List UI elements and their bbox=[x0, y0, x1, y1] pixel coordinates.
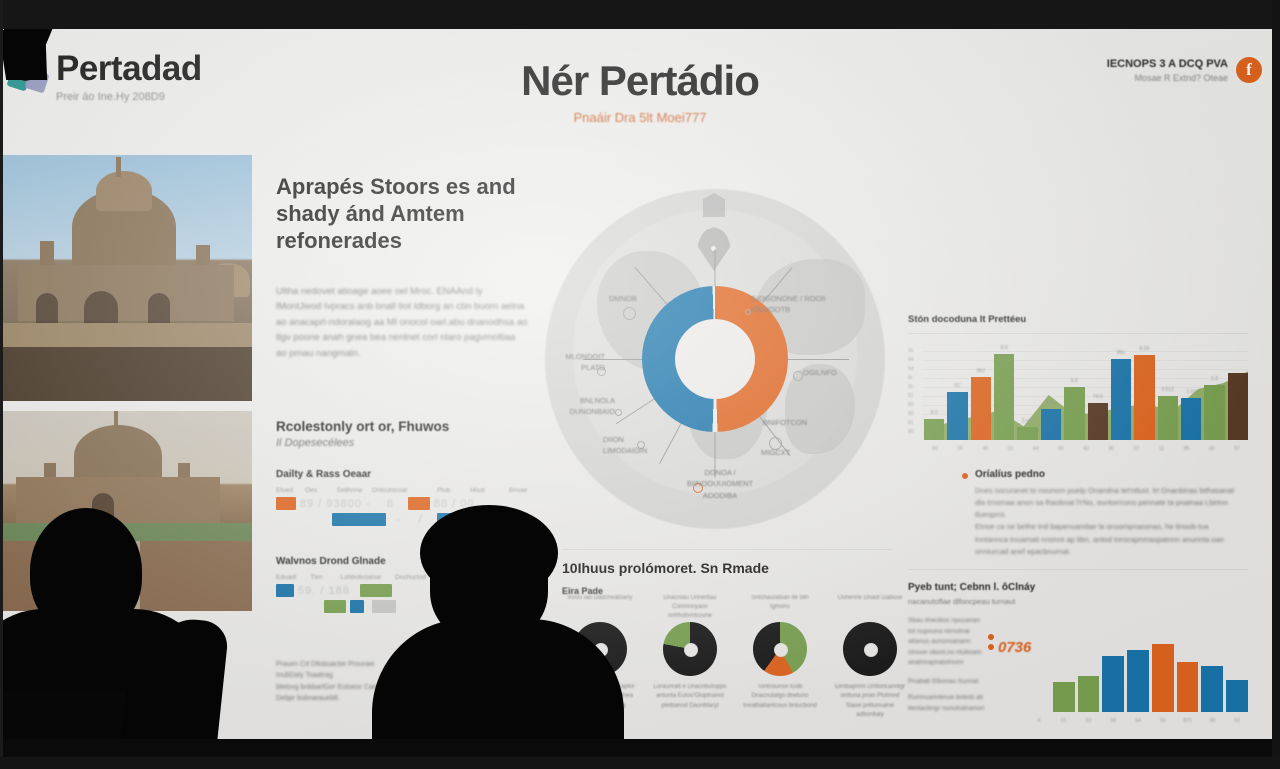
globe-label: DONOA / BIINOOUUIOMENT AOODIBA bbox=[677, 467, 763, 501]
y-tick-label: 90 bbox=[908, 411, 914, 417]
stat-label: Ontcutocoat bbox=[372, 487, 407, 494]
x-tick-label: 30 bbox=[1100, 446, 1122, 452]
stat-swatch-orange bbox=[276, 497, 296, 510]
bar: 8.24 bbox=[1134, 355, 1154, 440]
globe-label: MLONDOIT PLATO bbox=[553, 351, 605, 374]
globe-label: DMNOB bbox=[609, 293, 637, 304]
chart-side-text-2: Pnabab Elbonau Sunnat bbox=[908, 677, 986, 688]
title-block: Nér Pertádio Pnaáir Dra 5lt Moei777 bbox=[0, 57, 1280, 125]
x-tick-label: 59 bbox=[1102, 718, 1124, 724]
chart-panel-bottom-right: Pyeb tunt; Cebnn l. ôClnáy nacanutoflae … bbox=[908, 569, 1248, 724]
bar-value-label: 6.8 bbox=[1064, 378, 1084, 384]
x-tick-label: 11 bbox=[1150, 446, 1172, 452]
x-axis: 000F4001446043302211853097 bbox=[924, 446, 1248, 452]
y-tick-label: 44 bbox=[908, 357, 914, 363]
globe-node[interactable] bbox=[623, 307, 636, 320]
x-tick-label: 22 bbox=[1125, 446, 1147, 452]
stat-value-g2: 59. / 188 bbox=[298, 585, 350, 597]
stat-bar-green-2 bbox=[324, 600, 346, 613]
x-axis: 401035954558709053 bbox=[1028, 718, 1248, 724]
chart-side-text-3: Rumnuannbnue bnbnb ab tlentacbngr nunutr… bbox=[908, 693, 986, 714]
bar: 86J bbox=[971, 377, 991, 440]
bar-group bbox=[1028, 616, 1248, 712]
globe-label: BNIFOTCON bbox=[763, 417, 833, 428]
bar-value-label: 8.0 bbox=[924, 410, 944, 416]
stat-bar-green bbox=[360, 584, 392, 597]
header-right-line1: IECNOPS 3 A DCQ PVA bbox=[1107, 57, 1228, 72]
note-block: Oríalíus pedno Dnes nocuranet to nounom … bbox=[962, 469, 1248, 558]
bar: 8.0 bbox=[924, 419, 944, 440]
bar-value-label: 85c bbox=[1111, 350, 1131, 356]
globe-label: GIOGONONE / ROOII IOOIIOOTB bbox=[751, 293, 827, 316]
stat-label: Hlsat bbox=[470, 487, 485, 494]
screen-frame-left bbox=[0, 0, 3, 769]
x-tick-label: 55 bbox=[1152, 718, 1174, 724]
cards-title: 10Ihuus prolómoret. Sn Rmade bbox=[562, 560, 892, 576]
bar: 9.512 bbox=[1158, 396, 1178, 440]
bar bbox=[1201, 666, 1223, 712]
x-tick-label: 97 bbox=[1226, 446, 1248, 452]
x-tick-label: 53 bbox=[1226, 718, 1248, 724]
bar: 1.0 bbox=[1204, 385, 1224, 440]
note-body: Dnes nocuranet to nounom puelp Onandna t… bbox=[975, 485, 1243, 558]
bar-group: 8.041'86J8.65.o/50.806.874.085c8.249.512… bbox=[924, 342, 1248, 440]
bar-chart-bottom-right: 401035954558709053 bbox=[1028, 616, 1248, 724]
screen-frame-right bbox=[1272, 0, 1280, 769]
stat-label: Lohbubctatow bbox=[341, 574, 381, 581]
donut-card-caption-top: Sntchauodoan lte tillh tgmons bbox=[742, 594, 818, 616]
bar: 6.8 bbox=[1064, 387, 1084, 440]
big-value: 0736 bbox=[998, 639, 1028, 656]
y-tick-label: 3x bbox=[908, 348, 913, 354]
left-body-text: Ultha nedovet atioage aoee oel Mroc. ENA… bbox=[276, 284, 528, 361]
x-tick-label: 870 bbox=[1177, 718, 1199, 724]
bar-value-label: 5.o/5 bbox=[1017, 418, 1037, 424]
donut-card: Dnacniau Unnertlau Conmnnyaon nnhhobvntc… bbox=[652, 594, 728, 720]
bullet-dot-icon bbox=[988, 634, 994, 640]
bar bbox=[1226, 680, 1248, 712]
x-tick-label: 4 bbox=[1028, 718, 1050, 724]
mini-donut-chart bbox=[843, 622, 897, 676]
globe-donut-diagram: DMNOB MLONDOIT PLATO BNLNOLA DUNONBAIO D… bbox=[545, 189, 885, 529]
bar-value-label: 1.0 bbox=[1204, 376, 1224, 382]
x-tick-label: 03 bbox=[1078, 718, 1100, 724]
bar-value-label: 0.80 bbox=[1041, 400, 1061, 406]
bar: 8.6 bbox=[994, 354, 1014, 440]
bar-value-label: 8.24 bbox=[1134, 346, 1154, 352]
donut-card-caption-bottom: Tontcounse lGdb Dnacnulatgo dnetuno tnea… bbox=[742, 683, 818, 711]
bar: 5.o/5 bbox=[1017, 427, 1037, 440]
x-tick-label: 90 bbox=[1201, 718, 1223, 724]
stat-bar-blue-4 bbox=[350, 600, 364, 613]
y-tick-label: 61 bbox=[908, 420, 914, 426]
y-tick-label: 6r bbox=[908, 375, 912, 381]
bar: 85c bbox=[1111, 359, 1131, 440]
bar: 1.1d bbox=[1181, 398, 1201, 440]
photo-monument-1 bbox=[0, 155, 252, 401]
page-subtitle: Pnaáir Dra 5lt Moei777 bbox=[0, 110, 1280, 125]
stat-label: Tlvn bbox=[310, 574, 322, 581]
stat-swatch-blue bbox=[276, 584, 294, 597]
cards-panel: 10Ihuus prolómoret. Sn Rmade Eira Pade bbox=[562, 549, 892, 596]
stat-label: Dnchuctod bbox=[395, 574, 426, 581]
presentation-photo: Pertadad Preir áo Ine.Hy 208D9 Nér Pertá… bbox=[0, 0, 1280, 769]
stat-label: Bnsae bbox=[509, 487, 527, 494]
stat-bar-blue bbox=[332, 513, 386, 526]
header-right-line2: Mosae R Extnd? Oteae bbox=[1107, 72, 1228, 84]
donut-card-caption-bottom: Glntbapnnn Dnttoncanntgr onttuna pnan Pt… bbox=[832, 683, 908, 720]
stat-label: Plub bbox=[437, 487, 450, 494]
y-tick-label: 60 bbox=[908, 402, 914, 408]
x-tick-label: 60 bbox=[1050, 446, 1072, 452]
globe-label: MIGCXT bbox=[761, 447, 821, 458]
stat-value-small: 8 bbox=[387, 498, 394, 510]
bar-value-label: 74.0 bbox=[1088, 394, 1108, 400]
mini-donut-chart bbox=[663, 622, 717, 676]
globe-label: BNLNOLA DUNONBAIO bbox=[563, 395, 615, 418]
donut-card: Sntchauodoan lte tillh tgmonsTontcounse … bbox=[742, 594, 818, 720]
facebook-icon[interactable]: f bbox=[1236, 57, 1262, 83]
x-tick-label: 54 bbox=[1127, 718, 1149, 724]
bullet-dot-icon-2 bbox=[988, 644, 994, 650]
screen-frame-top bbox=[0, 0, 1280, 29]
x-tick-label: 01 bbox=[999, 446, 1021, 452]
stat-bar-grey bbox=[372, 600, 396, 613]
bar: 41' bbox=[947, 392, 967, 440]
x-tick-label: 44 bbox=[1025, 446, 1047, 452]
bar: 0.80 bbox=[1041, 409, 1061, 440]
y-tick-label: 51 bbox=[908, 393, 914, 399]
chart-bottom-subtitle: nacanutoflae dlfoncpeau turnaut bbox=[908, 597, 1248, 606]
bar: 74.0 bbox=[1088, 403, 1108, 440]
x-tick-label: 85 bbox=[1176, 446, 1198, 452]
note-heading: Oríalíus pedno bbox=[975, 469, 1243, 480]
donut-card-caption-top: Dnacniau Unnertlau Conmnnyaon nnhhobvntc… bbox=[652, 594, 728, 616]
chart-title: Stón docoduna lt Prettéeu bbox=[908, 314, 1248, 325]
bar bbox=[1053, 682, 1075, 712]
globe-node[interactable] bbox=[793, 371, 803, 381]
bar bbox=[1102, 656, 1124, 712]
x-tick-label: 40 bbox=[974, 446, 996, 452]
bar-value-label: 41' bbox=[947, 383, 967, 389]
header-right: IECNOPS 3 A DCQ PVA Mosae R Extnd? Oteae… bbox=[1107, 57, 1262, 84]
stat-label: Etued bbox=[276, 487, 293, 494]
bar bbox=[1127, 650, 1149, 712]
globe-node[interactable] bbox=[615, 409, 622, 416]
bar-value-label: 86J bbox=[971, 368, 991, 374]
donut-card-caption-bottom: Loraunratt é Dnacnbutoppo antunta Eutoo'… bbox=[652, 683, 728, 711]
stat-label: Eduadl bbox=[276, 574, 296, 581]
bar bbox=[1228, 373, 1248, 440]
globe-label: DIION LIMODAIOIN bbox=[603, 434, 659, 457]
chart-side-text-1: Sbau tlneobos npuuanan tot nupnuna ntrno… bbox=[908, 616, 986, 669]
mini-donut-chart bbox=[753, 622, 807, 676]
left-section-title: Rcolestonly ort or, Fhuwos bbox=[276, 419, 449, 434]
donut-card-caption-top: Oshenne Dnaot Gabuse bbox=[832, 594, 908, 616]
chart-bottom-title: Pyeb tunt; Cebnn l. ôClnáy bbox=[908, 582, 1248, 593]
y-tick-label: 5d bbox=[908, 366, 914, 372]
audience-silhouette-1-head bbox=[30, 508, 142, 634]
x-tick-label: 43 bbox=[1075, 446, 1097, 452]
left-section-subtitle: Il Dopesecélees bbox=[276, 437, 449, 449]
y-tick-label: 80 bbox=[908, 429, 914, 435]
y-tick-label: 3c bbox=[908, 384, 913, 390]
bar-value-label: 1.1d bbox=[1181, 389, 1201, 395]
bar bbox=[1152, 644, 1174, 712]
stat-swatch-orange-2 bbox=[408, 497, 430, 510]
x-tick-label: 30 bbox=[1201, 446, 1223, 452]
screen-frame-bottom bbox=[0, 757, 1280, 769]
bullet-dot-icon bbox=[962, 473, 968, 479]
donut-card: Oshenne Dnaot GabuseGlntbapnnn Dnttoncan… bbox=[832, 594, 908, 720]
globe-label: OGILNFO bbox=[803, 367, 859, 378]
page-title: Nér Pertádio bbox=[0, 57, 1280, 105]
donut-card-caption-top: Innos lao Dadcheatoany bbox=[562, 594, 638, 616]
x-tick-label: 00 bbox=[924, 446, 946, 452]
bar-value-label: 8.6 bbox=[994, 345, 1014, 351]
x-tick-label: 0F bbox=[949, 446, 971, 452]
chart-panel-top-right: Stón docoduna lt Prettéeu 3x445d6r3c5160… bbox=[908, 314, 1248, 452]
stat-group-1-title: Dailty & Rass Oeaar bbox=[276, 469, 526, 480]
left-heading: Aprapés Stoors es and shady ánd Amtem re… bbox=[276, 174, 538, 254]
bar bbox=[1177, 662, 1199, 712]
bar-value-label: 9.512 bbox=[1158, 387, 1178, 393]
bar bbox=[1078, 676, 1100, 712]
bar-chart-top-right: 3x445d6r3c51609061808.041'86J8.65.o/50.8… bbox=[908, 342, 1248, 452]
stat-label: Oes. bbox=[305, 487, 319, 494]
stat-value: 89 / 93800 - bbox=[300, 498, 371, 510]
x-tick-label: 01 bbox=[1053, 718, 1075, 724]
stat-label: Setlhnrw bbox=[337, 487, 362, 494]
